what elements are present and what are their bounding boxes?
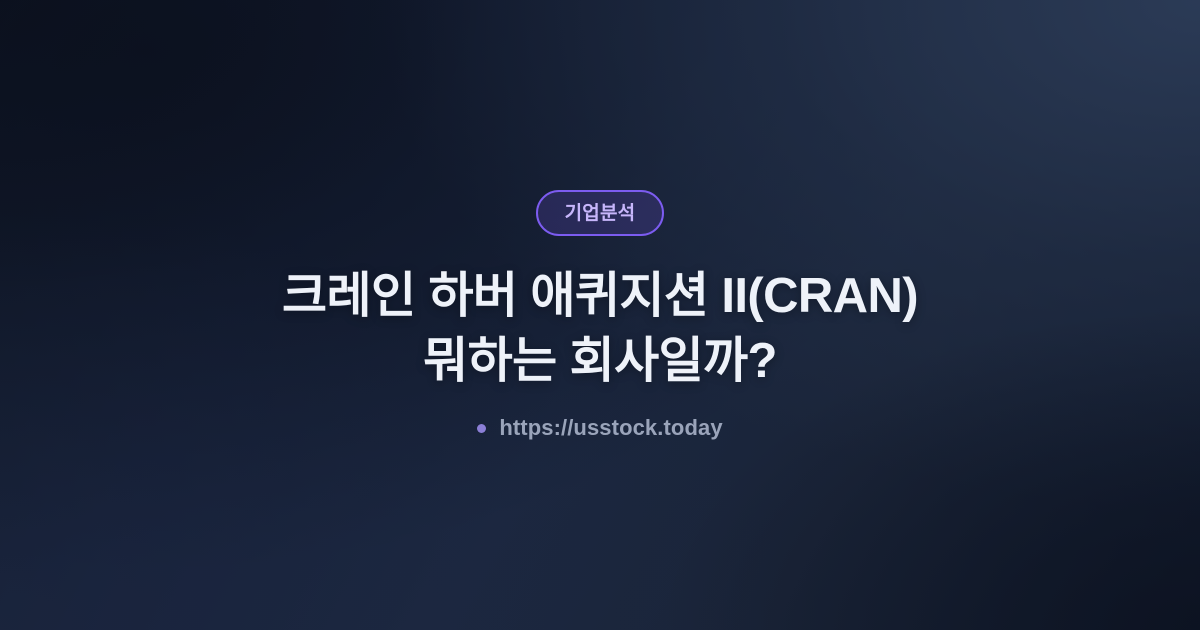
page-title-line-2: 뭐하는 회사일까?: [100, 329, 1100, 394]
page-title: 크레인 하버 애퀴지션 II(CRAN) 뭐하는 회사일까?: [100, 264, 1100, 393]
page-title-line-1: 크레인 하버 애퀴지션 II(CRAN): [100, 264, 1100, 329]
site-url-row: https://usstock.today: [477, 417, 722, 439]
site-url-label: https://usstock.today: [499, 417, 722, 439]
category-badge-label: 기업분석: [565, 204, 636, 223]
og-share-card: 기업분석 크레인 하버 애퀴지션 II(CRAN) 뭐하는 회사일까? http…: [0, 0, 1200, 630]
card-content: 기업분석 크레인 하버 애퀴지션 II(CRAN) 뭐하는 회사일까? http…: [0, 0, 1200, 630]
category-badge: 기업분석: [536, 190, 665, 236]
bullet-dot-icon: [477, 424, 486, 433]
